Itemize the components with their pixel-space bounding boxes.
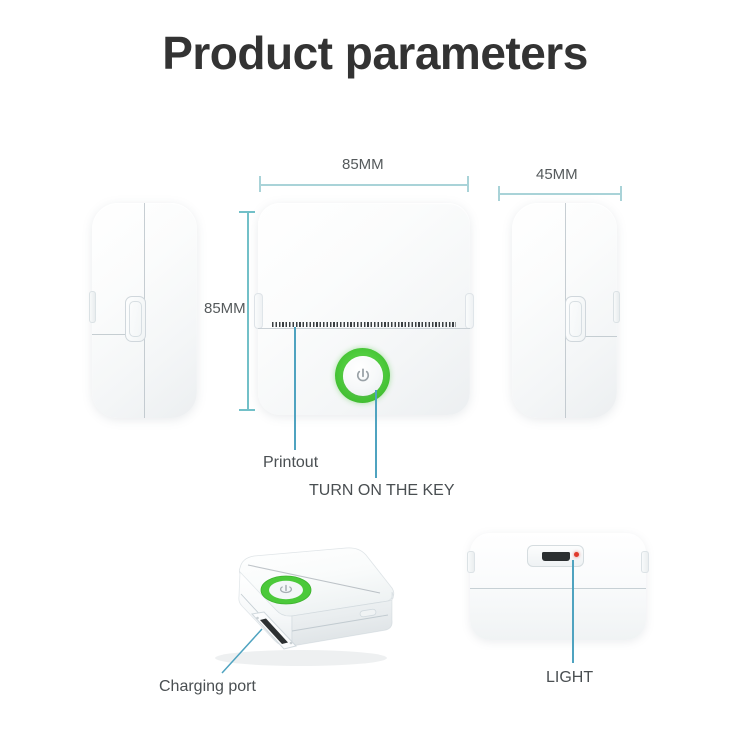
dimension-line-width [259,184,469,186]
side-nub-right [613,291,620,323]
back-seam-line [470,588,646,589]
leader-line-charging-port [150,625,270,680]
side-nub-left [89,291,96,323]
device-left-side-view [92,203,197,418]
leader-line-light [572,560,574,663]
front-ear-left [254,293,263,329]
side-latch-detail [565,296,586,342]
device-front-view [258,203,470,415]
callout-label-charging-port: Charging port [159,678,256,696]
micro-usb-port [542,552,570,561]
back-tab-right [641,551,649,573]
device-back-view [470,533,646,640]
paper-exit-slot-teeth [272,322,456,327]
dimension-tick-left [259,176,261,192]
power-button-inner [343,356,383,396]
leader-line-power [375,390,377,478]
side-latch-detail [125,296,146,342]
callout-label-printout: Printout [263,454,318,472]
side-latch-inner [569,301,582,337]
dimension-tick-right [620,186,622,201]
dimension-label-depth: 45MM [536,166,578,183]
dimension-tick-top [239,211,255,213]
device-right-side-view [512,203,617,418]
back-tab-left [467,551,475,573]
leader-line-printout [294,327,296,450]
isometric-power-button [261,576,311,604]
dimension-tick-right [467,176,469,192]
dimension-tick-left [498,186,500,201]
dimension-line-depth [498,193,622,195]
paper-exit-slot-line [258,328,470,329]
dimension-line-height [247,211,249,411]
dimension-label-width: 85MM [342,156,384,173]
side-latch-inner [129,301,142,337]
dimension-tick-bottom [239,409,255,411]
front-ear-right [465,293,474,329]
dimension-label-height: 85MM [204,300,246,317]
page-title: Product parameters [0,30,750,76]
callout-label-light: LIGHT [546,669,593,687]
product-parameters-page: Product parameters [0,0,750,750]
power-icon [354,367,372,385]
power-button[interactable] [335,348,390,403]
led-indicator [574,552,579,557]
callout-label-power: TURN ON THE KEY [309,482,455,500]
